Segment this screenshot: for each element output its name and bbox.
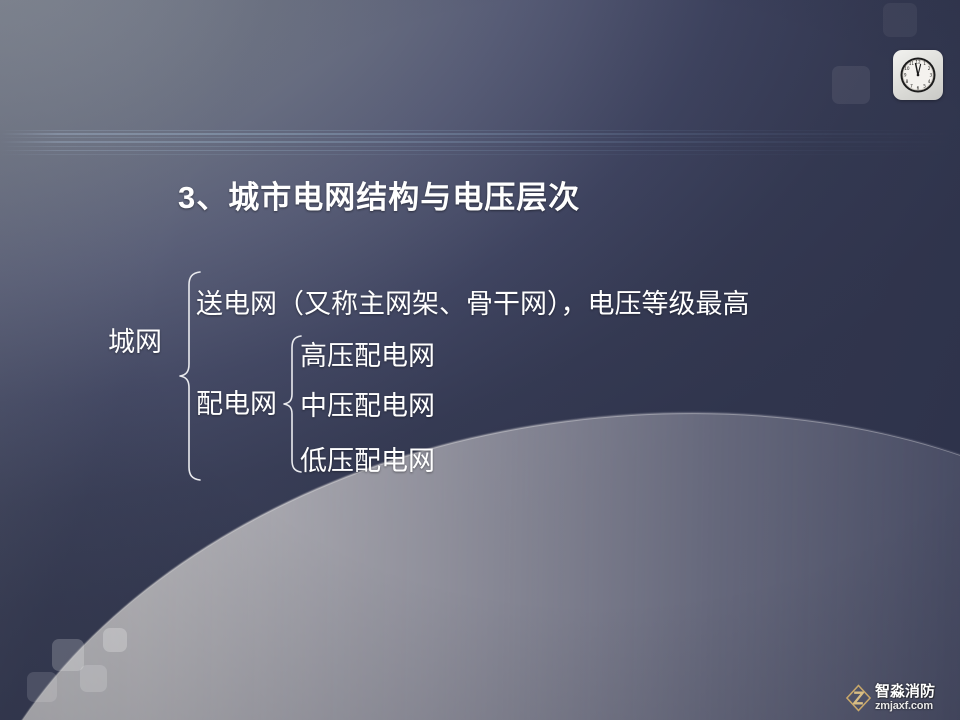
decorative-square-bottom-left-2	[80, 665, 107, 692]
branch-high-voltage-distribution: 高压配电网	[300, 334, 435, 373]
decorative-square-bottom-left-1	[52, 639, 84, 671]
svg-text:9: 9	[904, 72, 907, 77]
clock-icon: 12 1 2 3 4 5 6 7 8 9 10 11	[893, 50, 943, 100]
svg-text:10: 10	[904, 66, 910, 71]
watermark-url: zmjaxf.com	[875, 701, 935, 712]
page-title: 3、城市电网结构与电压层次	[178, 172, 580, 217]
svg-text:3: 3	[929, 72, 932, 77]
watermark: 智淼消防 zmjaxf.com	[845, 680, 957, 716]
diagram-root-label: 城网	[108, 320, 162, 359]
svg-text:1: 1	[923, 61, 926, 66]
decorative-square-top-right-1	[883, 3, 917, 37]
branch-distribution-network: 配电网	[196, 382, 277, 421]
svg-text:5: 5	[923, 84, 926, 89]
svg-text:11: 11	[909, 61, 915, 66]
svg-text:6: 6	[917, 85, 920, 90]
svg-text:8: 8	[906, 79, 909, 84]
diamond-logo-icon	[845, 684, 872, 712]
branch-low-voltage-distribution: 低压配电网	[300, 439, 435, 478]
branch-transmission-network: 送电网（又称主网架、骨干网），电压等级最高	[196, 282, 750, 321]
decorative-square-bottom-left-4	[103, 628, 127, 652]
decorative-square-bottom-left-3	[27, 672, 57, 702]
svg-text:2: 2	[928, 66, 931, 71]
watermark-brand: 智淼消防	[875, 684, 935, 699]
svg-text:7: 7	[910, 84, 913, 89]
slide-canvas: 12 1 2 3 4 5 6 7 8 9 10 11 3、城市电网结构与电压层次…	[0, 0, 960, 720]
branch-medium-voltage-distribution: 中压配电网	[300, 384, 435, 423]
svg-text:4: 4	[928, 79, 931, 84]
brace-diagram: 城网 送电网（又称主网架、骨干网），电压等级最高 配电网 高压配电网 中压配电网…	[108, 262, 908, 492]
decorative-square-top-right-2	[832, 66, 870, 104]
